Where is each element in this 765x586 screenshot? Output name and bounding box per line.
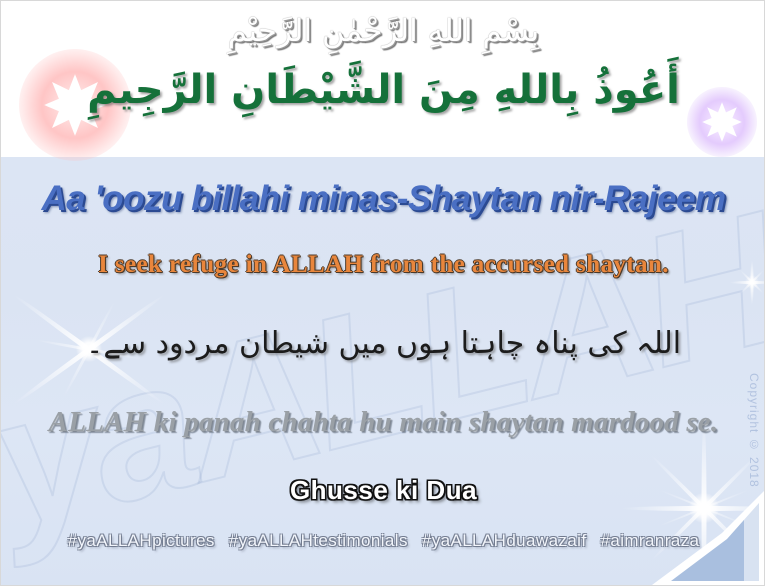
arabic-dua-text: أَعُوذُ بِاللهِ مِنَ الشَّيْطَانِ الرَّج…: [1, 63, 765, 117]
hashtag-item[interactable]: #yaALLAHtestimonials: [229, 531, 408, 550]
urdu-translation-text: اللہ کی پناہ چاہتا ہوں میں شیطان مردود س…: [1, 326, 765, 361]
bismillah-text: بِسْمِ اللهِ الرَّحْمٰنِ الرَّحِيْمِ: [1, 13, 765, 49]
page-title: Ghusse ki Dua: [1, 475, 765, 506]
dua-poster: yaALLAH Copyright © 2018 بِسْمِ اللهِ ال…: [0, 0, 765, 586]
roman-urdu-text: ALLAH ki panah chahta hu main shaytan ma…: [1, 406, 765, 439]
hashtag-list: #yaALLAHpictures#yaALLAHtestimonials#yaA…: [1, 531, 765, 551]
hashtag-item[interactable]: #yaALLAHduawazaif: [422, 531, 587, 550]
hashtag-item[interactable]: #yaALLAHpictures: [68, 531, 215, 550]
transliteration-text: Aa 'oozu billahi minas-Shaytan nir-Rajee…: [1, 179, 765, 219]
english-translation-text: I seek refuge in ALLAH from the accursed…: [1, 251, 765, 279]
hashtag-item[interactable]: #aimranraza: [600, 531, 699, 550]
background-bottom-band: [1, 157, 765, 586]
